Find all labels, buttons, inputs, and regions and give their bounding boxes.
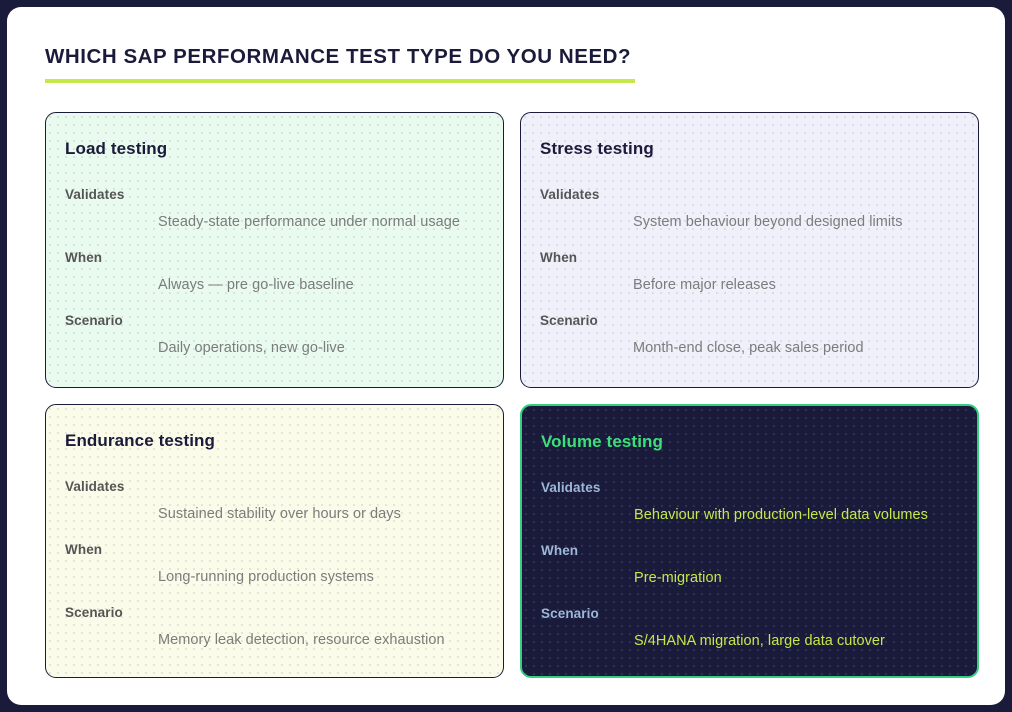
card-title: Stress testing bbox=[540, 139, 956, 159]
page-title: WHICH SAP PERFORMANCE TEST TYPE DO YOU N… bbox=[45, 45, 631, 69]
row-value-validates: System behaviour beyond designed limits bbox=[633, 214, 956, 230]
row-value-validates: Sustained stability over hours or days bbox=[158, 506, 481, 522]
row-value-scenario: S/4HANA migration, large data cutover bbox=[634, 633, 955, 649]
row-value-scenario: Month-end close, peak sales period bbox=[633, 340, 956, 356]
card-volume-testing[interactable]: Volume testing Validates Behaviour with … bbox=[520, 404, 979, 678]
row-value-when: Always — pre go-live baseline bbox=[158, 277, 481, 293]
row-label-validates: Validates bbox=[540, 187, 956, 202]
row-value-when: Pre-migration bbox=[634, 570, 955, 586]
row-label-when: When bbox=[65, 542, 481, 557]
outer-frame: WHICH SAP PERFORMANCE TEST TYPE DO YOU N… bbox=[0, 0, 1012, 712]
row-value-scenario: Memory leak detection, resource exhausti… bbox=[158, 632, 481, 648]
row-label-when: When bbox=[541, 543, 955, 558]
card-title: Endurance testing bbox=[65, 431, 481, 451]
card-content: Load testing Validates Steady-state perf… bbox=[65, 139, 481, 356]
card-content: Endurance testing Validates Sustained st… bbox=[65, 431, 481, 648]
row-value-when: Long-running production systems bbox=[158, 569, 481, 585]
card-title: Volume testing bbox=[541, 432, 955, 452]
card-content: Volume testing Validates Behaviour with … bbox=[541, 432, 955, 649]
row-label-validates: Validates bbox=[541, 480, 955, 495]
row-value-validates: Steady-state performance under normal us… bbox=[158, 214, 481, 230]
title-accent-rule bbox=[45, 79, 635, 83]
row-label-when: When bbox=[65, 250, 481, 265]
card-load-testing[interactable]: Load testing Validates Steady-state perf… bbox=[45, 112, 504, 388]
card-endurance-testing[interactable]: Endurance testing Validates Sustained st… bbox=[45, 404, 504, 678]
row-value-validates: Behaviour with production-level data vol… bbox=[634, 507, 955, 523]
test-type-card-grid: Load testing Validates Steady-state perf… bbox=[45, 112, 979, 678]
card-title: Load testing bbox=[65, 139, 481, 159]
card-content: Stress testing Validates System behaviou… bbox=[540, 139, 956, 356]
row-value-scenario: Daily operations, new go-live bbox=[158, 340, 481, 356]
row-label-validates: Validates bbox=[65, 187, 481, 202]
card-stress-testing[interactable]: Stress testing Validates System behaviou… bbox=[520, 112, 979, 388]
content-panel: WHICH SAP PERFORMANCE TEST TYPE DO YOU N… bbox=[7, 7, 1005, 705]
row-value-when: Before major releases bbox=[633, 277, 956, 293]
row-label-scenario: Scenario bbox=[65, 313, 481, 328]
row-label-scenario: Scenario bbox=[65, 605, 481, 620]
row-label-validates: Validates bbox=[65, 479, 481, 494]
row-label-scenario: Scenario bbox=[541, 606, 955, 621]
row-label-when: When bbox=[540, 250, 956, 265]
row-label-scenario: Scenario bbox=[540, 313, 956, 328]
